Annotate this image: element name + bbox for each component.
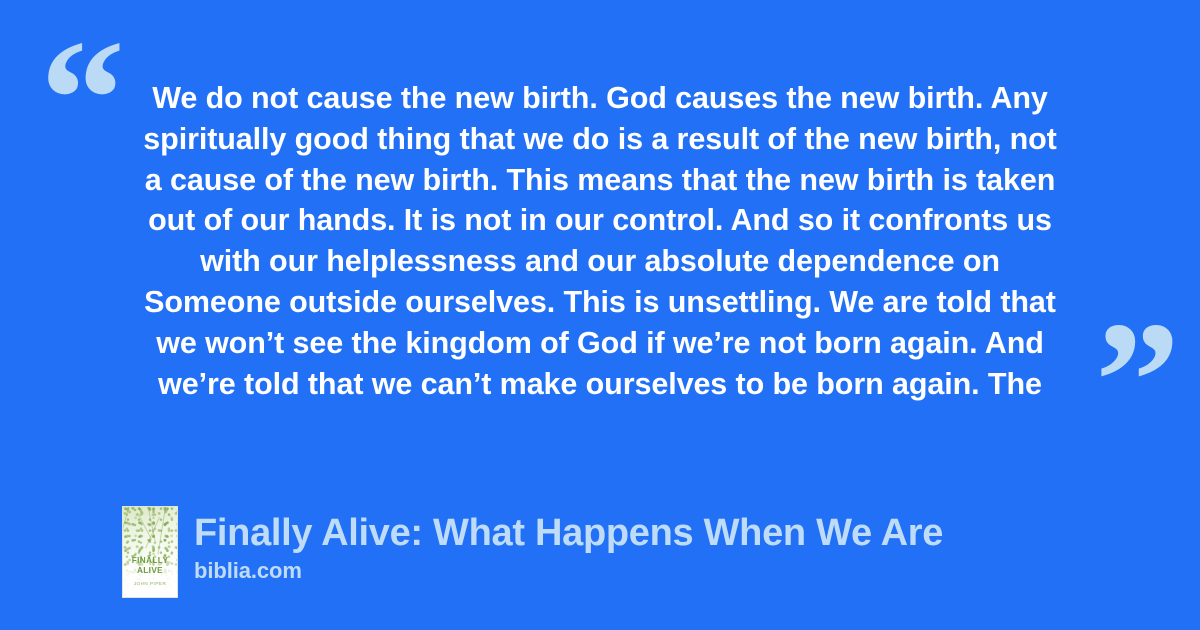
- quote-text-block: We do not cause the new birth. God cause…: [96, 78, 1104, 404]
- quote-line: spiritually good thing that we do is a r…: [96, 119, 1104, 160]
- quote-card: “ We do not cause the new birth. God cau…: [0, 0, 1200, 630]
- quote-line: with our helplessness and our absolute d…: [96, 241, 1104, 282]
- book-cover-thumbnail[interactable]: FINALLY ALIVE JOHN PIPER: [122, 506, 178, 598]
- closing-quote-icon: ”: [1095, 296, 1178, 466]
- cover-title: FINALLY ALIVE: [123, 556, 177, 575]
- source-site-label[interactable]: biblia.com: [194, 557, 943, 585]
- cover-title-line-1: FINALLY: [123, 556, 177, 565]
- book-title[interactable]: Finally Alive: What Happens When We Are: [194, 510, 943, 556]
- quote-line: We do not cause the new birth. God cause…: [96, 78, 1104, 119]
- quote-line: we’re told that we can’t make ourselves …: [96, 364, 1104, 405]
- quote-line: we won’t see the kingdom of God if we’re…: [96, 323, 1104, 364]
- footer-text-group: Finally Alive: What Happens When We Are …: [194, 506, 943, 585]
- attribution-footer: FINALLY ALIVE JOHN PIPER Finally Alive: …: [122, 506, 943, 598]
- cover-title-line-2: ALIVE: [123, 566, 177, 575]
- quote-line: out of our hands. It is not in our contr…: [96, 200, 1104, 241]
- cover-author: JOHN PIPER: [123, 581, 177, 586]
- quote-line: a cause of the new birth. This means tha…: [96, 160, 1104, 201]
- quote-line: Someone outside ourselves. This is unset…: [96, 282, 1104, 323]
